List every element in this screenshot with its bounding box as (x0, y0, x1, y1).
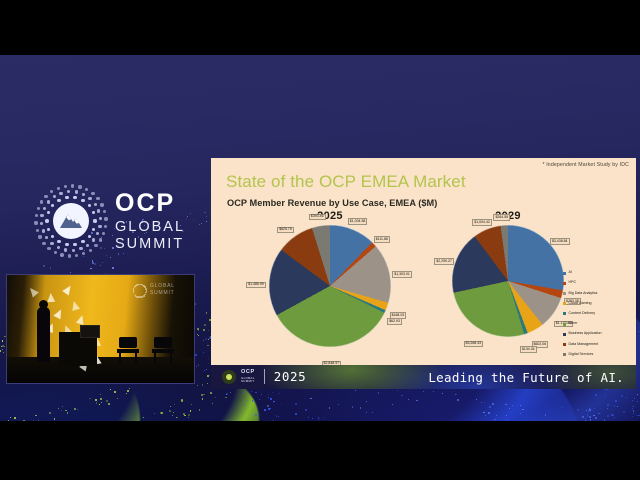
legend-item: AI (563, 268, 633, 278)
ocp-mountain-logo-icon (36, 186, 106, 256)
footer-tagline: Leading the Future of AI. (428, 370, 624, 385)
legend-swatch-icon (563, 302, 566, 305)
legend-swatch-icon (563, 323, 566, 326)
legend-label: Other (569, 322, 578, 326)
legend-label: Big Data Analytics (569, 292, 598, 296)
slide-source-note: * Independent Market Study by IDC (542, 162, 629, 168)
ocp-brand-lockup: OCP GLOBAL SUMMIT (36, 179, 188, 263)
pie-chart-2025: 2025 $1,004.58$111.88$1,303.01$168.03$62… (225, 210, 435, 347)
legend-item: HPC (563, 278, 633, 288)
legend-label: Content Delivery (569, 312, 596, 316)
video-canvas[interactable]: OCP GLOBAL SUMMIT (0, 55, 640, 421)
pie-data-label: $1,004.58 (348, 218, 368, 225)
video-player-frame: OCP GLOBAL SUMMIT (0, 0, 640, 480)
footer-brand-lockup: OCP GLOBAL SUMMIT 2025 (222, 369, 306, 384)
pie-data-label: $1,004.42 (472, 219, 492, 226)
pie-data-label: $3,438.84 (550, 238, 570, 245)
footer-year: 2025 (274, 369, 307, 384)
pie-title-2025: 2025 (225, 210, 435, 222)
backdrop-logo-line2: SUMMIT (150, 290, 175, 297)
legend-label: HPC (569, 281, 577, 285)
legend-item: Business Application (563, 329, 633, 339)
pie-data-label: $62.93 (387, 318, 402, 325)
pie-graphic-2025 (269, 225, 391, 347)
laptop-icon (80, 325, 100, 338)
pie-data-label: $393.46 (309, 214, 326, 221)
ocp-circle-mark-icon (222, 370, 236, 384)
legend-label: Digital Services (569, 353, 594, 357)
pie-data-label: $1,485.99 (246, 282, 266, 289)
footer-divider (264, 369, 265, 384)
slide-footer-band: OCP GLOBAL SUMMIT 2025 Leading the Futur… (211, 365, 636, 389)
letterbox-bottom (0, 421, 640, 480)
presenter-silhouette (37, 307, 50, 362)
legend-swatch-icon (563, 343, 566, 346)
pie-data-label: $134.34 (520, 346, 537, 353)
stage-chair (152, 337, 174, 363)
slide-subtitle: OCP Member Revenue by Use Case, EMEA ($M… (227, 198, 437, 208)
backdrop-ocp-logo-icon: GLOBAL SUMMIT (131, 282, 185, 299)
legend-label: Business Application (569, 332, 602, 336)
stage-chair (117, 337, 139, 363)
brand-line-summit: SUMMIT (115, 237, 185, 252)
charts-container: 2025 $1,004.58$111.88$1,303.01$168.03$62… (211, 210, 636, 365)
pie-data-label: $1,303.01 (392, 271, 412, 278)
legend-label: AI (569, 271, 572, 275)
pie-data-label: $825.75 (277, 227, 294, 234)
pie-data-label: $2,259.27 (434, 258, 454, 265)
pie-graphic-2029 (452, 225, 564, 337)
pie-data-label: $3,268.43 (464, 341, 484, 348)
legend-item: Cloud Gaming (563, 299, 633, 309)
legend-swatch-icon (563, 333, 566, 336)
slide-title: State of the OCP EMEA Market (226, 172, 466, 192)
footer-wordmark-ocp: OCP (241, 370, 255, 376)
pie-data-label: $111.88 (374, 236, 390, 243)
legend-swatch-icon (563, 353, 566, 356)
legend-label: Data Management (569, 343, 599, 347)
legend-item: Content Delivery (563, 309, 633, 319)
legend-label: Cloud Gaming (569, 302, 592, 306)
pie-data-label: $264.55 (493, 214, 510, 221)
brand-line-ocp: OCP (115, 191, 185, 216)
mountain-glyph-icon (53, 203, 89, 239)
legend-swatch-icon (563, 312, 566, 315)
legend-item: Digital Services (563, 350, 633, 360)
legend-item: Big Data Analytics (563, 288, 633, 298)
legend-item: Data Management (563, 339, 633, 349)
legend-swatch-icon (563, 272, 566, 275)
presenter-camera-feed[interactable]: GLOBAL SUMMIT (6, 274, 195, 384)
legend-swatch-icon (563, 292, 566, 295)
legend-swatch-icon (563, 282, 566, 285)
presentation-slide[interactable]: * Independent Market Study by IDC State … (211, 158, 636, 365)
backdrop-logo-line1: GLOBAL (150, 283, 175, 290)
legend-item: Other (563, 319, 633, 329)
letterbox-top (0, 0, 640, 55)
brand-line-global: GLOBAL (115, 220, 185, 235)
footer-wordmark-summit: SUMMIT (241, 380, 255, 383)
chart-legend: AIHPCBig Data AnalyticsCloud GamingConte… (563, 268, 633, 360)
presenter-head (39, 300, 48, 309)
